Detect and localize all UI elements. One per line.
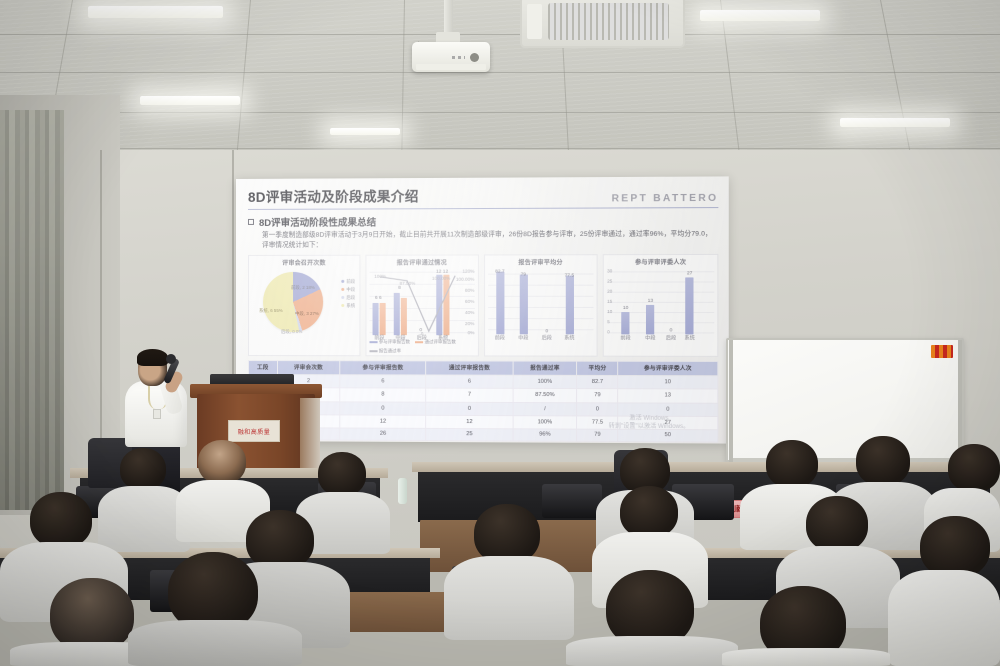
- table-header-cell: 平均分: [577, 361, 618, 375]
- x-tick: 后段: [537, 334, 557, 341]
- legend-label: 前段: [346, 279, 355, 284]
- pie-slice-label-0: 前段, 2 18%: [291, 285, 315, 291]
- table-cell: 7: [426, 388, 513, 402]
- projector-lens-icon: [470, 53, 479, 62]
- table-header-cell: 报告通过率: [513, 361, 577, 375]
- table-cell: 96%: [513, 429, 577, 441]
- slide-bullet-heading: 8D评审活动阶段性成果总结: [248, 213, 718, 229]
- ceiling: [0, 0, 1000, 175]
- chart-panel-row: 评审会召开次数 前段, 2 18% 中段, 3 27% 后段, 0 0% 系统,…: [248, 254, 718, 357]
- magnet-icon: [931, 345, 953, 358]
- legend-label: 后段: [346, 295, 355, 300]
- y-tick: 0: [607, 329, 610, 334]
- table-header-cell: 工段: [248, 360, 277, 374]
- pie-slice-label-3: 系统, 6 55%: [259, 308, 283, 314]
- slide-header: 8D评审活动及阶段成果介绍 REPT BATTERO: [248, 184, 718, 206]
- legend-label: 参与评审报告数: [379, 339, 410, 344]
- legend-label: 中段: [346, 287, 355, 292]
- table-cell: 87.50%: [513, 388, 577, 402]
- bullet-label: 8D评审活动阶段性成果总结: [259, 215, 376, 229]
- whiteboard-leg: [729, 340, 733, 468]
- presenter-hair: [137, 349, 168, 366]
- chart-title: 参与评审评委人次: [607, 257, 714, 266]
- conference-room-scene: 8D评审活动及阶段成果介绍 REPT BATTERO 8D评审活动阶段性成果总结…: [0, 0, 1000, 666]
- ceiling-grid: [0, 0, 1000, 175]
- x-tick: 前段: [615, 334, 636, 341]
- slide-title: 8D评审活动及阶段成果介绍: [248, 185, 419, 206]
- chart-title: 报告评审平均分: [488, 257, 594, 266]
- table-header-cell: 评审会次数: [277, 361, 340, 375]
- x-tick: 系统: [679, 334, 700, 341]
- square-bullet-icon: [248, 219, 254, 225]
- podium-sign: 融和高质量: [228, 420, 280, 442]
- ceiling-light: [140, 96, 240, 105]
- company-logo: REPT BATTERO: [612, 193, 719, 205]
- bar-value: 82.7: [490, 270, 510, 275]
- pie-legend: 前段 中段 后段 系统: [341, 278, 355, 311]
- legend-label: 报告通过率: [379, 348, 401, 353]
- chart-title: 报告评审通过情况: [369, 257, 474, 266]
- table-header-row: 工段 评审会次数 参与评审报告数 通过评审报告数 报告通过率 平均分 参与评审评…: [248, 360, 717, 375]
- title-divider: [248, 207, 718, 210]
- slide-paragraph: 第一季度制造部级8D评审活动于3月9日开始，截止目前共开展11次制造部级评审，2…: [262, 230, 718, 251]
- desk-monitor: [542, 484, 602, 518]
- bar-value: 27: [679, 271, 700, 276]
- ceiling-light: [700, 10, 820, 21]
- table-cell: 100%: [513, 416, 577, 430]
- ceiling-light: [88, 6, 223, 18]
- watermark-line-2: 转到"设置"以激活 Windows。: [609, 423, 690, 432]
- table-cell: 8: [340, 388, 426, 402]
- chart-average-score: 报告评审平均分 82.7 79 0 77.5: [484, 254, 598, 356]
- line-value: 100.00%: [432, 276, 450, 281]
- microphone-head-icon: [166, 354, 176, 364]
- y-tick: 10: [607, 309, 612, 314]
- air-conditioner-vent-icon: [520, 0, 685, 48]
- table-header-cell: 参与评审评委人次: [618, 361, 718, 375]
- ceiling-light: [330, 128, 400, 135]
- windows-activation-watermark: 激活 Windows 转到"设置"以激活 Windows。: [609, 414, 690, 431]
- table-cell: 82.7: [577, 375, 618, 389]
- table-cell: 50: [618, 430, 718, 442]
- y-tick: 5: [607, 319, 610, 324]
- wall-seam: [100, 150, 102, 480]
- x-tick: 后段: [661, 334, 682, 341]
- chart-judge-attendance: 参与评审评委人次 30 25 20 15 10 5: [603, 254, 718, 357]
- chart-title: 评审会召开次数: [252, 258, 356, 267]
- bar-value: 13: [640, 299, 661, 304]
- legend-label: 系统: [346, 303, 355, 308]
- table-cell: /: [513, 402, 577, 416]
- bar-value: 10: [615, 306, 636, 311]
- pie-chart: [263, 272, 323, 332]
- plot-area: 120% 100.00% 80% 60% 40% 20% 0% 6 6: [369, 268, 474, 344]
- table-cell: 0: [340, 401, 426, 415]
- line-value: 100%: [374, 274, 386, 279]
- table-cell: 13: [618, 389, 718, 403]
- pie-slice-label-1: 中段, 3 27%: [295, 311, 319, 317]
- legend-label: 通过评审报告数: [425, 339, 456, 344]
- y-tick: 30: [607, 268, 612, 273]
- pie-slice-label-2: 后段, 0 0%: [281, 329, 302, 335]
- table-cell: 6: [426, 375, 513, 389]
- bar-value: 79: [513, 273, 533, 278]
- plot-area: 30 25 20 15 10 5 0 10 13 0 27: [607, 267, 714, 343]
- y-tick: 20: [607, 289, 612, 294]
- y-tick: 15: [607, 299, 612, 304]
- y-tick: 25: [607, 279, 612, 284]
- chart-review-pass-rate: 报告评审通过情况 120% 100.00% 80% 60% 40%: [365, 254, 478, 356]
- ceiling-light: [840, 118, 950, 127]
- window-curtain: [0, 110, 64, 510]
- id-badge: [153, 409, 161, 419]
- x-tick: 中段: [640, 334, 661, 341]
- table-cell: 0: [426, 402, 513, 416]
- chart-pie-meetings: 评审会召开次数 前段, 2 18% 中段, 3 27% 后段, 0 0% 系统,…: [248, 255, 360, 357]
- line-value: 87.50%: [400, 281, 416, 286]
- x-tick: 前段: [490, 334, 510, 341]
- table-cell: 25: [426, 429, 513, 441]
- table-cell: 79: [577, 389, 618, 403]
- table-header-cell: 通过评审报告数: [426, 361, 513, 375]
- whiteboard: [726, 338, 964, 462]
- x-tick: 系统: [559, 334, 580, 341]
- table-cell: 12: [426, 415, 513, 429]
- bar-value: 0: [661, 328, 682, 333]
- desk-surface: [652, 462, 996, 472]
- x-tick: 中段: [513, 334, 533, 341]
- table-cell: 26: [340, 428, 426, 440]
- table-cell: 79: [577, 429, 618, 441]
- ceiling-projector: [412, 42, 490, 72]
- plot-area: 82.7 79 0 77.5 前段 中段 后段 系统: [488, 267, 594, 343]
- table-header-cell: 参与评审报告数: [340, 361, 426, 375]
- chart-legend: 参与评审报告数 通过评审报告数 报告通过率: [369, 339, 477, 354]
- table-cell: 6: [340, 375, 426, 389]
- table-cell: 12: [340, 415, 426, 429]
- water-bottle: [398, 478, 407, 504]
- bar-value: 77.5: [559, 273, 580, 278]
- table-cell: 10: [618, 375, 718, 389]
- table-cell: 100%: [513, 375, 577, 389]
